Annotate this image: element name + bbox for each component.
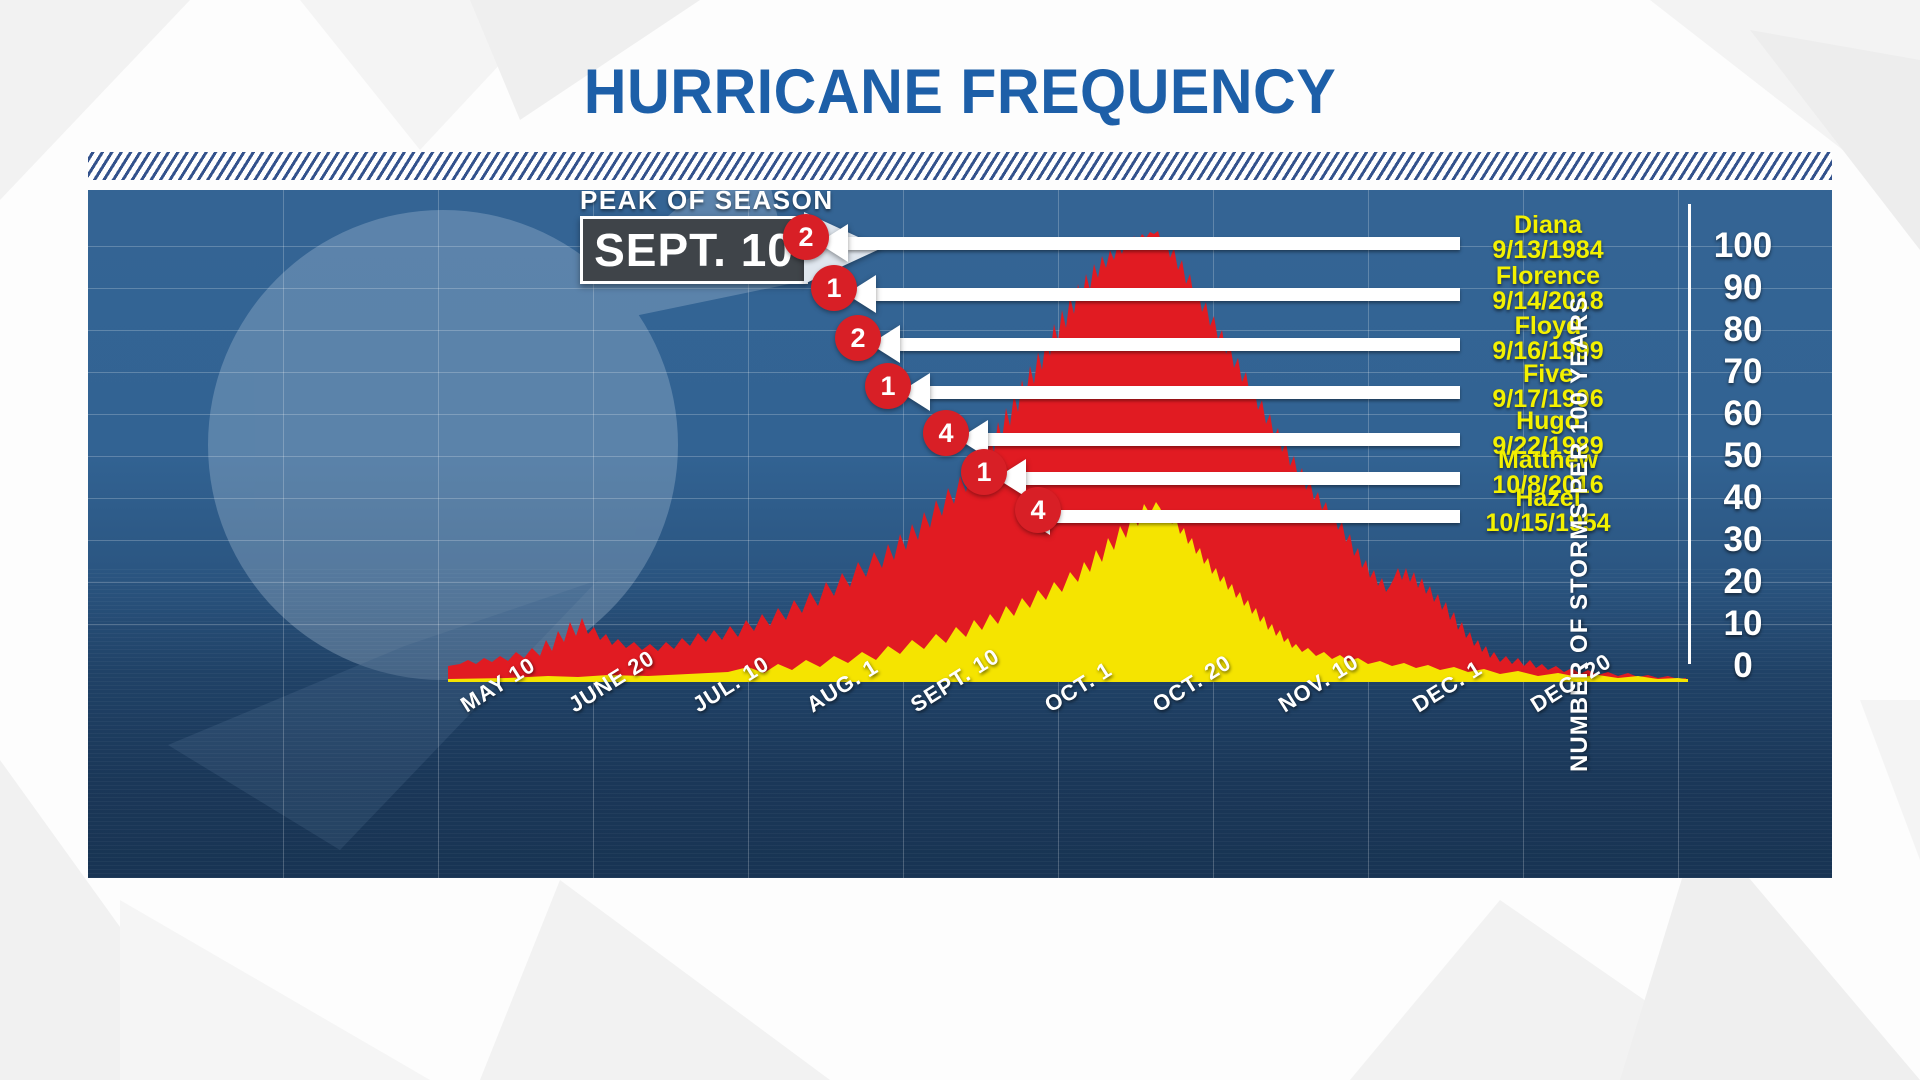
y-tick-40: 40	[1700, 478, 1786, 518]
y-tick-10: 10	[1700, 604, 1786, 644]
storm-marker-4[interactable]: 1	[865, 363, 911, 409]
y-axis-line	[1688, 204, 1691, 664]
storm-name-1: Diana	[1492, 213, 1603, 238]
chart-panel: PEAK OF SEASON SEPT. 10 2 1 2 1 4 1 4 Di…	[88, 190, 1832, 878]
storm-label-1: Diana 9/13/1984	[1492, 213, 1603, 263]
y-tick-100: 100	[1700, 226, 1786, 266]
storm-marker-5[interactable]: 4	[923, 410, 969, 456]
peak-date-box: SEPT. 10	[580, 216, 808, 284]
y-tick-90: 90	[1700, 268, 1786, 308]
storm-marker-2[interactable]: 1	[811, 265, 857, 311]
y-tick-50: 50	[1700, 436, 1786, 476]
storm-arrow-line-6	[1026, 472, 1460, 485]
peak-of-season-label: PEAK OF SEASON	[580, 190, 834, 216]
y-axis-title: NUMBER OF STORMS PER 100 YEARS	[1566, 296, 1594, 772]
storm-arrow-line-5	[988, 433, 1460, 446]
y-tick-60: 60	[1700, 394, 1786, 434]
storm-marker-6[interactable]: 1	[961, 449, 1007, 495]
storm-arrow-line-4	[930, 386, 1460, 399]
storm-arrow-line-2	[876, 288, 1460, 301]
hatched-divider	[88, 152, 1832, 180]
storm-marker-3[interactable]: 2	[835, 315, 881, 361]
storm-marker-1[interactable]: 2	[783, 214, 829, 260]
storm-name-2: Florence	[1492, 264, 1603, 289]
y-tick-0: 0	[1700, 646, 1786, 686]
storm-arrow-line-3	[900, 338, 1460, 351]
storm-arrow-line-1	[848, 237, 1460, 250]
storm-marker-7[interactable]: 4	[1015, 487, 1061, 533]
storm-date-1: 9/13/1984	[1492, 238, 1603, 263]
page-title: HURRICANE FREQUENCY	[58, 56, 1863, 128]
storm-arrow-line-7	[1050, 510, 1460, 523]
y-tick-80: 80	[1700, 310, 1786, 350]
y-tick-20: 20	[1700, 562, 1786, 602]
y-tick-30: 30	[1700, 520, 1786, 560]
y-tick-70: 70	[1700, 352, 1786, 392]
